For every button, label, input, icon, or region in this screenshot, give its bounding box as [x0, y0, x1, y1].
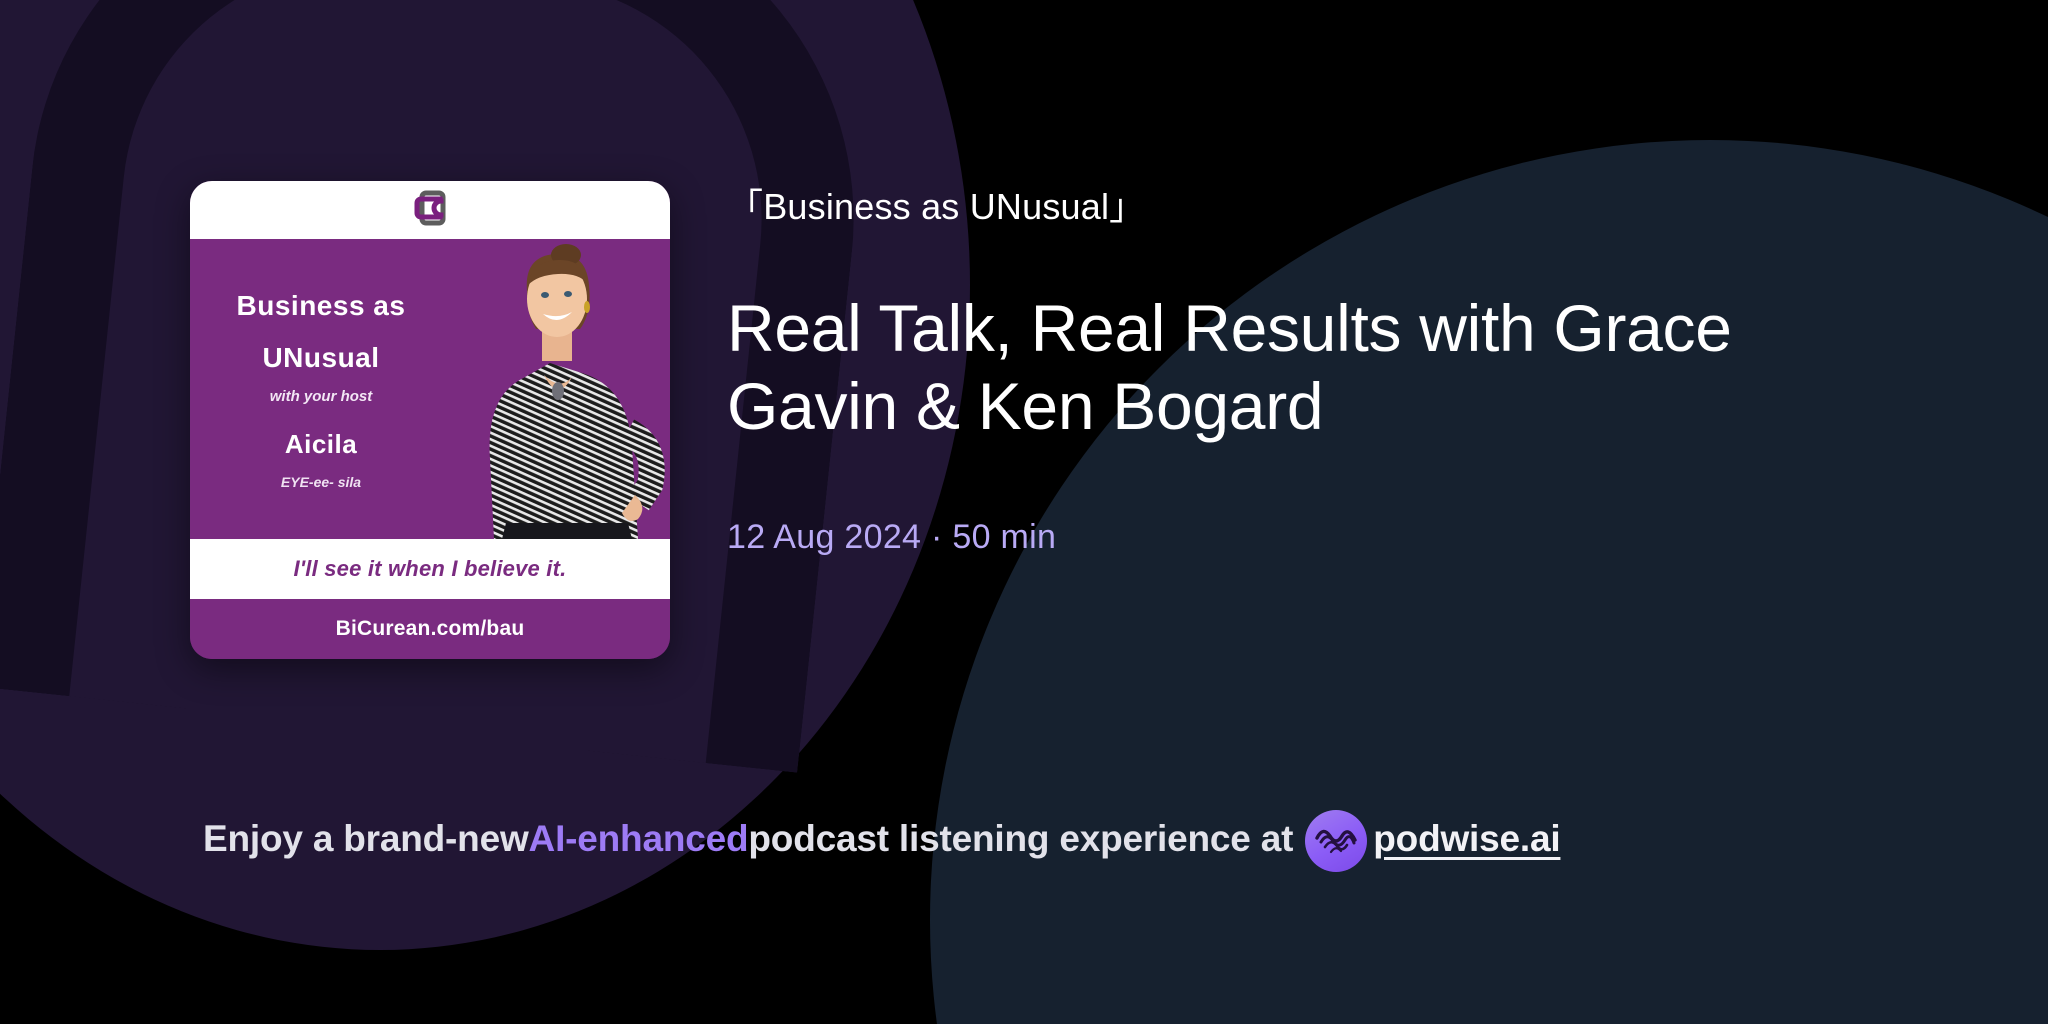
- podcast-cover-card[interactable]: Business as UNusual with your host Aicil…: [190, 181, 670, 659]
- podwise-link[interactable]: podwise.ai: [1373, 818, 1560, 860]
- cover-tagline: I'll see it when I believe it.: [294, 556, 567, 582]
- host-portrait-image: [432, 241, 670, 539]
- episode-title: Real Talk, Real Results with Grace Gavin…: [727, 290, 1887, 446]
- cover-host-name: Aicila: [285, 429, 357, 460]
- cover-host-pronunciation: EYE-ee- sila: [281, 474, 361, 490]
- podcast-share-card: Business as UNusual with your host Aicil…: [0, 0, 2048, 1024]
- cover-title-line-1: Business as: [237, 292, 406, 320]
- promo-text-before: Enjoy a brand-new: [203, 818, 529, 860]
- promo-banner: Enjoy a brand-new AI-enhanced podcast li…: [203, 808, 1560, 870]
- bicurean-bc-monogram-icon: [409, 188, 451, 233]
- cover-url-bar[interactable]: BiCurean.com/bau: [190, 599, 670, 659]
- cover-host-prefix: with your host: [270, 388, 373, 405]
- cover-title-line-2: UNusual: [262, 344, 379, 372]
- promo-accent-text: AI-enhanced: [529, 818, 749, 860]
- episode-info-column: 「Business as UNusual」 Real Talk, Real Re…: [727, 178, 1907, 557]
- cover-body: Business as UNusual with your host Aicil…: [190, 239, 670, 539]
- podwise-wave-icon: [1305, 810, 1367, 872]
- cover-url[interactable]: BiCurean.com/bau: [336, 617, 525, 641]
- show-name[interactable]: 「Business as UNusual」: [727, 178, 1907, 230]
- cover-tagline-bar: I'll see it when I believe it.: [190, 539, 670, 599]
- cover-header: [190, 181, 670, 239]
- cover-text-column: Business as UNusual with your host Aicil…: [190, 239, 452, 539]
- promo-text-after: podcast listening experience at: [748, 818, 1293, 860]
- episode-meta: 12 Aug 2024 · 50 min: [727, 518, 1907, 557]
